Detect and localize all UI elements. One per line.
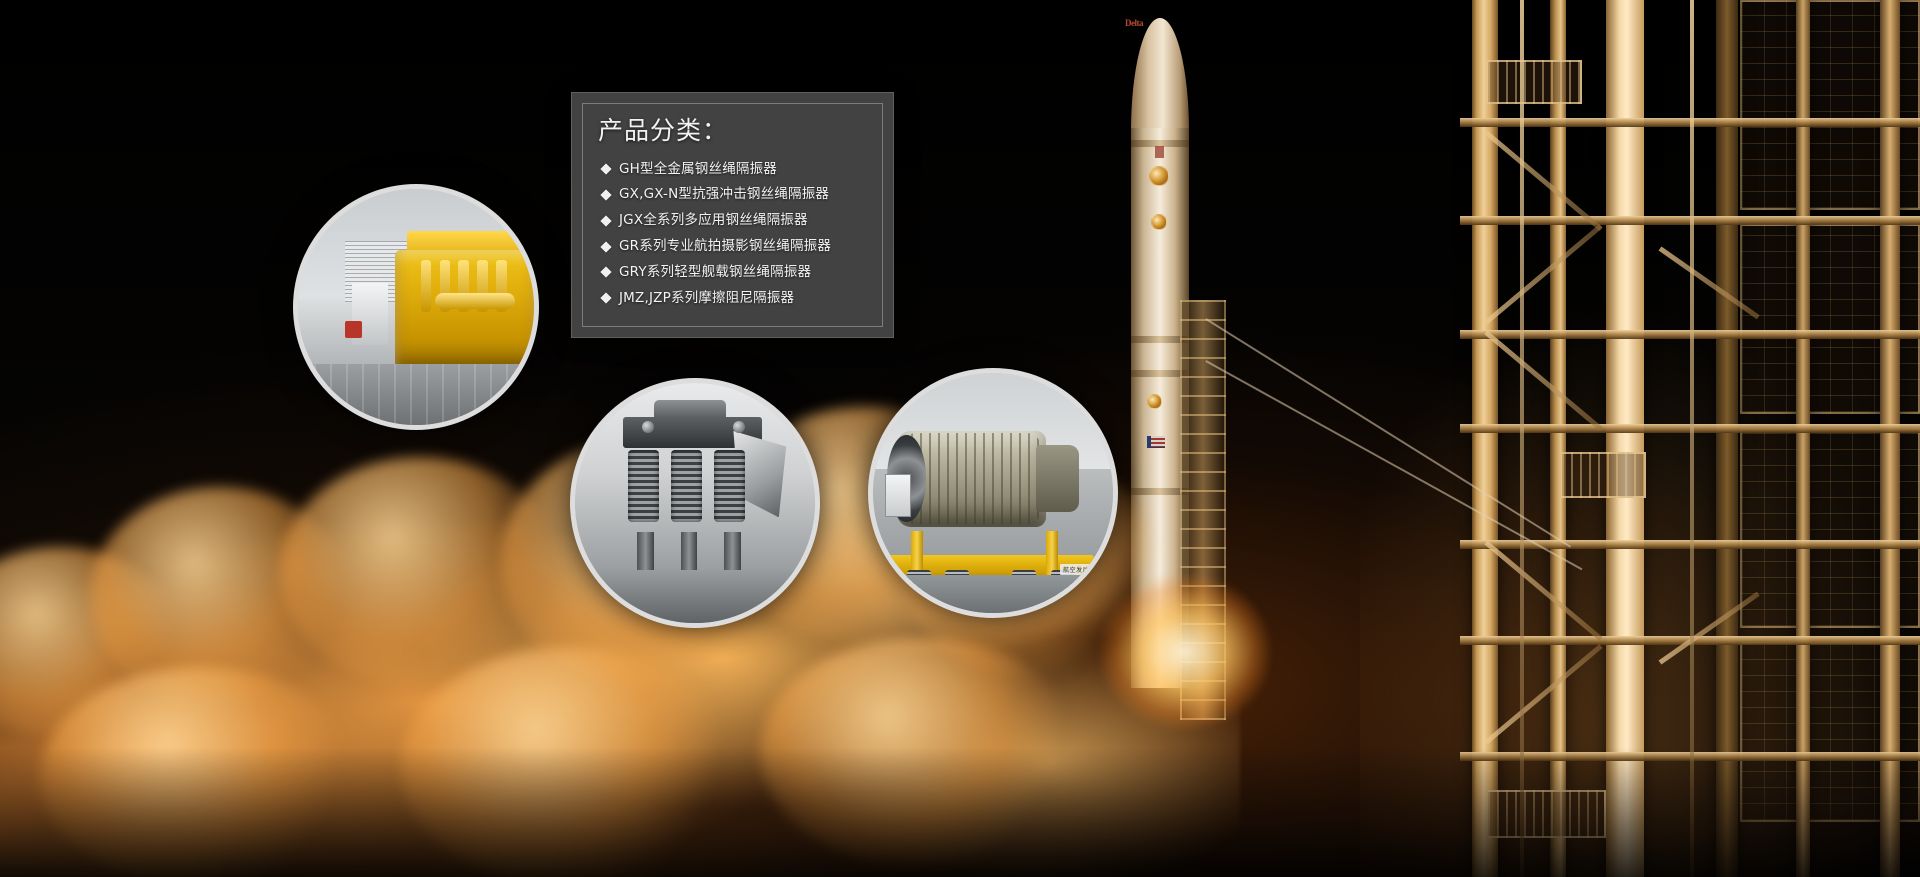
product-photo-jet-engine[interactable]: 航空发动机 [868, 368, 1118, 618]
tower-column-2 [1550, 0, 1566, 877]
diamond-bullet-icon [600, 293, 611, 304]
product-photo-generator[interactable] [293, 184, 539, 430]
isolator-floor [575, 570, 815, 623]
agency-logo-icon [1151, 214, 1167, 230]
info-placard [885, 474, 911, 517]
category-item-label: GX,GX-N型抗强冲击钢丝绳隔振器 [619, 186, 829, 203]
tower-platform [1486, 60, 1582, 104]
category-list-item[interactable]: JMZ,JZP系列摩擦阻尼隔振器 [602, 290, 875, 307]
isolator-photo-content [575, 383, 815, 623]
tower-platform [1560, 452, 1646, 498]
product-photo-isolator[interactable] [570, 378, 820, 628]
wire-rope-coil [628, 450, 659, 522]
category-list-item[interactable]: GX,GX-N型抗强冲击钢丝绳隔振器 [602, 186, 875, 203]
ground-shadow [0, 747, 1920, 877]
generator-photo-content [298, 189, 534, 425]
rocket-wordmark: Delta [1125, 18, 1143, 28]
factory-floor [298, 364, 534, 425]
diamond-bullet-icon [600, 215, 611, 226]
jet-engine-photo-content: 航空发动机 [873, 373, 1113, 613]
category-list-item[interactable]: GH型全金属钢丝绳隔振器 [602, 161, 875, 178]
engine-cylinder [421, 260, 432, 312]
hangar-floor [873, 575, 1113, 613]
diamond-bullet-icon [600, 163, 611, 174]
product-category-banner: Delta [0, 0, 1920, 877]
mission-patch-icon [1149, 166, 1169, 186]
diamond-bullet-icon [600, 189, 611, 200]
category-list-item[interactable]: JGX全系列多应用钢丝绳隔振器 [602, 212, 875, 229]
product-category-list: GH型全金属钢丝绳隔振器GX,GX-N型抗强冲击钢丝绳隔振器JGX全系列多应用钢… [594, 161, 875, 307]
panel-content: 产品分类： GH型全金属钢丝绳隔振器GX,GX-N型抗强冲击钢丝绳隔振器JGX全… [572, 93, 893, 337]
category-item-label: JGX全系列多应用钢丝绳隔振器 [619, 212, 808, 229]
category-item-label: GR系列专业航拍摄影钢丝绳隔振器 [619, 238, 831, 255]
diamond-bullet-icon [600, 241, 611, 252]
wire-rope-coil [671, 450, 702, 522]
jet-photo-label: 航空发动机 [1060, 564, 1099, 575]
tower-column-3 [1606, 0, 1644, 877]
red-component [345, 321, 362, 338]
panel-title: 产品分类： [598, 117, 875, 145]
tower-rail [1520, 0, 1524, 877]
diamond-bullet-icon [600, 267, 611, 278]
engine-nozzle [1036, 445, 1079, 512]
exhaust-pipe [435, 293, 515, 310]
launch-tower [1360, 0, 1920, 877]
category-list-item[interactable]: GR系列专业航拍摄影钢丝绳隔振器 [602, 238, 875, 255]
rocket-marking [1155, 146, 1164, 158]
wire-rope-coil [714, 450, 745, 522]
tower-rail [1690, 0, 1694, 877]
category-list-item[interactable]: GRY系列轻型舰载钢丝绳隔振器 [602, 264, 875, 281]
tower-column-6 [1880, 0, 1900, 877]
rocket-nose-cone [1131, 18, 1189, 136]
tower-column-5 [1796, 0, 1810, 877]
category-item-label: JMZ,JZP系列摩擦阻尼隔振器 [619, 290, 794, 307]
product-category-panel: 产品分类： GH型全金属钢丝绳隔振器GX,GX-N型抗强冲击钢丝绳隔振器JGX全… [571, 92, 894, 338]
category-item-label: GRY系列轻型舰载钢丝绳隔振器 [619, 264, 811, 281]
category-item-label: GH型全金属钢丝绳隔振器 [619, 161, 777, 178]
tower-column-4 [1716, 0, 1738, 877]
